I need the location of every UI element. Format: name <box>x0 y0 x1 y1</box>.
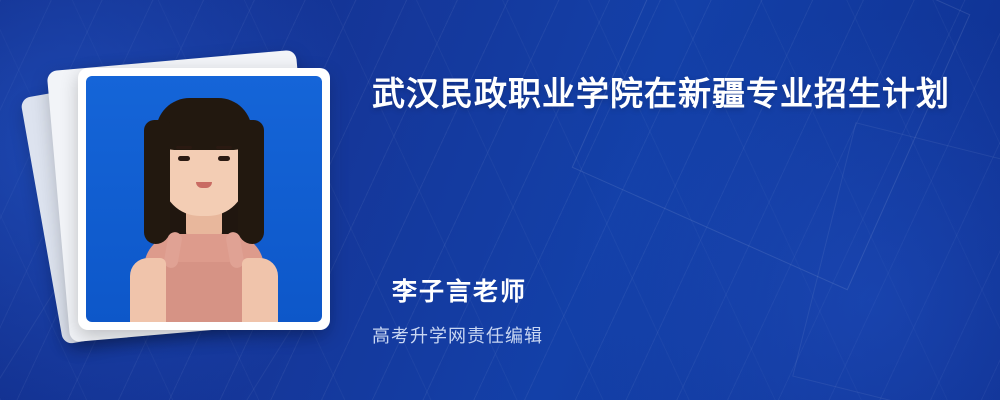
photo-card-front <box>78 68 330 330</box>
article-header-banner: 武汉民政职业学院在新疆专业招生计划 李子言老师 高考升学网责任编辑 <box>0 0 1000 400</box>
portrait-arm-right <box>242 258 278 322</box>
portrait-arm-left <box>130 258 166 322</box>
polygon-decoration-a <box>572 0 971 290</box>
portrait-photo <box>86 76 322 322</box>
portrait-eye-left <box>178 156 190 161</box>
page-title: 武汉民政职业学院在新疆专业招生计划 <box>372 66 962 122</box>
portrait-brow-right <box>216 146 232 149</box>
polygon-decoration-b <box>792 122 1000 400</box>
portrait-eye-right <box>218 156 230 161</box>
portrait-hair-left <box>144 120 170 244</box>
headline-block: 武汉民政职业学院在新疆专业招生计划 <box>372 66 962 122</box>
portrait-hair-right <box>238 120 264 244</box>
photo-card-stack <box>40 24 340 369</box>
portrait-brow-left <box>176 146 192 149</box>
author-name: 李子言老师 <box>392 272 527 308</box>
author-role: 高考升学网责任编辑 <box>372 322 543 348</box>
